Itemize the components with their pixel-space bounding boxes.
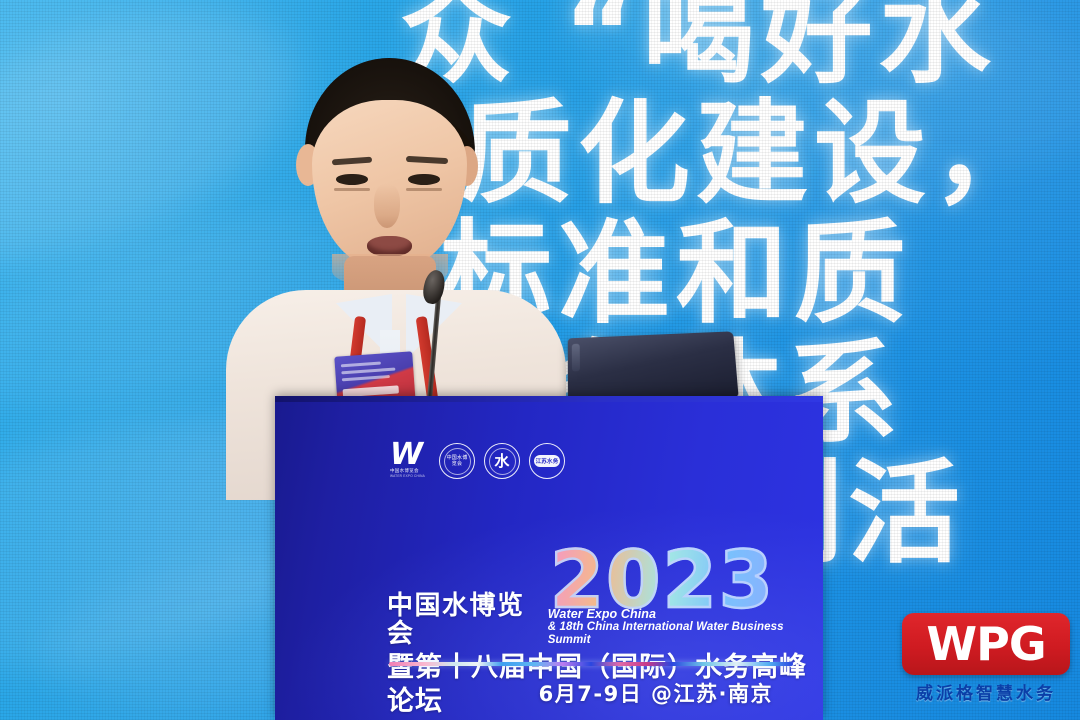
water-glyph: 水 xyxy=(494,454,509,469)
emblem-inner-text: 中国水博览会 xyxy=(444,448,471,475)
china-water-association-emblem-icon: 中国水博览会 xyxy=(439,443,475,479)
speaker-person xyxy=(228,58,558,438)
eye-left xyxy=(336,174,368,185)
event-title-cn: 中国水博览会 xyxy=(387,592,539,648)
eyelid-left xyxy=(334,188,370,191)
emblem-pill-text: 江苏水务 xyxy=(534,455,560,467)
podium-top-edge xyxy=(275,396,823,402)
wpg-brand-cn: 威派格智慧水务 xyxy=(916,679,1056,704)
gradient-divider xyxy=(389,662,793,666)
event-title-en: Water Expo China & 18th China Internatio… xyxy=(548,607,807,648)
event-title-en-line1: Water Expo China xyxy=(548,607,807,621)
emblem-inner: 水 xyxy=(489,448,516,475)
badge-line xyxy=(341,362,381,368)
wpg-watermark-logo: WPG 威派格智慧水务 xyxy=(898,602,1074,714)
laptop xyxy=(568,331,739,404)
badge-line xyxy=(342,375,390,381)
w-glyph: W xyxy=(390,442,430,468)
wpg-badge: WPG xyxy=(902,613,1070,675)
sponsor-logo-row: W 中国水博览会 WATER EXPO CHINA 中国水博览会 水 江苏水务 xyxy=(390,442,565,480)
badge-line xyxy=(341,368,395,375)
jiangsu-water-emblem-icon: 江苏水务 xyxy=(529,443,565,479)
nose xyxy=(374,184,400,228)
eyelid-right xyxy=(406,188,442,191)
wpg-brand-text: WPG xyxy=(926,621,1045,667)
podium-panel: W 中国水博览会 WATER EXPO CHINA 中国水博览会 水 江苏水务 … xyxy=(275,396,823,720)
event-title-en-line2: & 18th China International Water Busines… xyxy=(548,621,807,647)
laptop-hinge xyxy=(572,344,580,372)
water-expo-w-mark-icon: W 中国水博览会 WATER EXPO CHINA xyxy=(390,442,430,480)
w-mark-sub-en: WATER EXPO CHINA xyxy=(390,474,430,479)
water-character-emblem-icon: 水 xyxy=(484,443,520,479)
eye-right xyxy=(408,174,440,185)
conference-photo: 众 “喝好水 质化建设， 标准和质 务体系 制活 xyxy=(0,0,1080,720)
event-date-location: 6月7-9日 @江苏·南京 xyxy=(539,678,773,708)
